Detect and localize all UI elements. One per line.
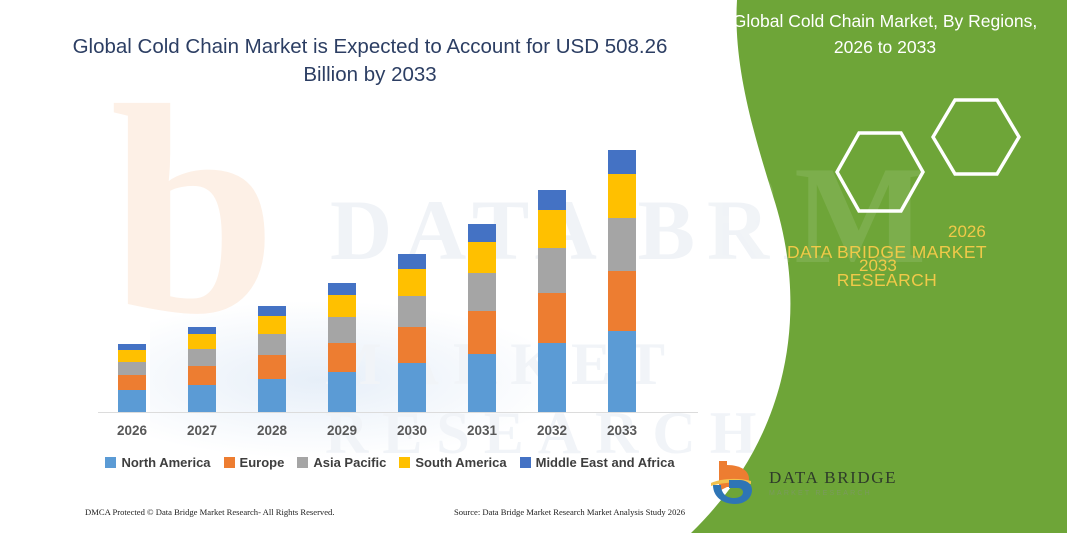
bar-segment: [468, 354, 496, 412]
logo-subtitle: MARKET RESEARCH: [769, 490, 897, 497]
brand-name-line1: DATA BRIDGE MARKET: [737, 238, 1037, 266]
bar-stack: [398, 254, 426, 412]
bar-segment: [468, 242, 496, 274]
bar-stack: [188, 327, 216, 412]
x-axis-tick-label: 2031: [447, 423, 517, 438]
hexagon-shapes: [807, 95, 1037, 220]
bar-segment: [258, 306, 286, 316]
bar-segment: [328, 295, 356, 317]
bar-segment: [468, 273, 496, 311]
brand-name-line2: RESEARCH: [737, 266, 1037, 294]
bar-segment: [258, 355, 286, 379]
bar-segment: [328, 317, 356, 343]
bar-segment: [188, 349, 216, 366]
legend-swatch-icon: [520, 457, 531, 468]
legend-label: South America: [415, 455, 506, 470]
bar-segment: [258, 316, 286, 334]
logo-mark-icon: [705, 457, 761, 509]
hexagon-group: 2026 2033: [807, 95, 1037, 220]
x-axis-tick-label: 2029: [307, 423, 377, 438]
bar-stack: [608, 150, 636, 412]
bar-segment: [118, 375, 146, 390]
bar-stack: [538, 190, 566, 412]
bar-segment: [468, 224, 496, 242]
legend-label: Asia Pacific: [313, 455, 386, 470]
bar-stack: [328, 283, 356, 412]
legend-item[interactable]: North America: [105, 455, 210, 470]
bar-chart-plot: [98, 118, 688, 412]
legend-item[interactable]: South America: [399, 455, 506, 470]
x-axis-tick-label: 2027: [167, 423, 237, 438]
bar-segment: [328, 283, 356, 295]
x-axis-tick-label: 2033: [587, 423, 657, 438]
bar-segment: [608, 271, 636, 331]
data-bridge-b-icon: [705, 457, 761, 509]
bar-segment: [398, 254, 426, 268]
footer-source: Source: Data Bridge Market Research Mark…: [454, 507, 685, 517]
bar-segment: [118, 362, 146, 375]
bar-segment: [398, 327, 426, 363]
logo-wordmark: DATA BRIDGE MARKET RESEARCH: [769, 469, 897, 497]
bar-segment: [258, 379, 286, 412]
panel-title: Global Cold Chain Market, By Regions, 20…: [725, 8, 1045, 60]
bar-segment: [188, 385, 216, 412]
bar-segment: [188, 366, 216, 386]
bar-segment: [118, 350, 146, 361]
bar-segment: [538, 210, 566, 248]
bar-segment: [608, 174, 636, 219]
bar-segment: [398, 363, 426, 412]
x-axis-tick-label: 2032: [517, 423, 587, 438]
x-axis-labels: 20262027202820292030203120322033: [98, 423, 688, 445]
x-axis-tick-label: 2026: [97, 423, 167, 438]
x-axis-tick-label: 2030: [377, 423, 447, 438]
legend-swatch-icon: [399, 457, 410, 468]
bar-segment: [188, 334, 216, 348]
infographic-canvas: b DATA BRIDGE MARKET RESEARCH Global Col…: [0, 0, 1067, 533]
footer: DMCA Protected © Data Bridge Market Rese…: [85, 507, 685, 517]
brand-panel: RM Global Cold Chain Market, By Regions,…: [677, 0, 1067, 533]
legend-label: Europe: [240, 455, 285, 470]
bar-stack: [118, 344, 146, 412]
company-logo: DATA BRIDGE MARKET RESEARCH: [705, 452, 925, 514]
chart-title: Global Cold Chain Market is Expected to …: [60, 33, 680, 89]
legend-label: North America: [121, 455, 210, 470]
bar-segment: [538, 248, 566, 292]
bar-segment: [608, 150, 636, 173]
legend-item[interactable]: Middle East and Africa: [520, 455, 675, 470]
bar-segment: [608, 331, 636, 412]
legend-swatch-icon: [224, 457, 235, 468]
legend-label: Middle East and Africa: [536, 455, 675, 470]
bar-segment: [538, 190, 566, 211]
bar-segment: [328, 372, 356, 412]
bar-segment: [538, 293, 566, 343]
bar-stack: [468, 224, 496, 412]
bar-segment: [118, 390, 146, 412]
legend-swatch-icon: [105, 457, 116, 468]
bar-stack: [258, 306, 286, 412]
chart-legend: North AmericaEuropeAsia PacificSouth Ame…: [95, 455, 685, 470]
legend-swatch-icon: [297, 457, 308, 468]
bar-segment: [258, 334, 286, 355]
bar-segment: [538, 343, 566, 412]
bar-segment: [398, 269, 426, 296]
footer-copyright: DMCA Protected © Data Bridge Market Rese…: [85, 507, 335, 517]
bar-segment: [608, 218, 636, 271]
bar-segment: [398, 296, 426, 327]
bar-segment: [468, 311, 496, 354]
x-axis-line: [98, 412, 698, 413]
x-axis-tick-label: 2028: [237, 423, 307, 438]
bar-segment: [188, 327, 216, 335]
legend-item[interactable]: Europe: [224, 455, 285, 470]
bar-segment: [328, 343, 356, 372]
brand-name: DATA BRIDGE MARKET RESEARCH: [737, 238, 1037, 294]
legend-item[interactable]: Asia Pacific: [297, 455, 386, 470]
logo-name: DATA BRIDGE: [769, 469, 897, 486]
